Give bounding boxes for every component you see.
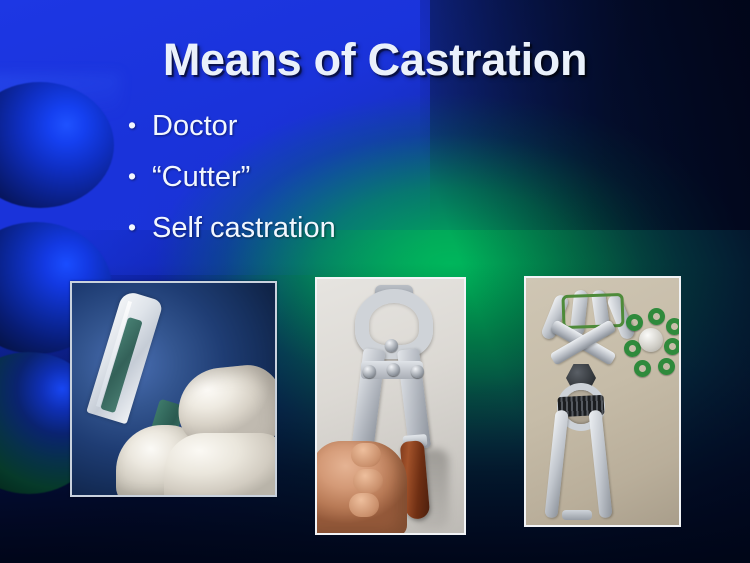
clamp-rivet bbox=[363, 365, 376, 378]
bullet-label: Doctor bbox=[152, 112, 558, 141]
bullet-label: Self castration bbox=[152, 214, 558, 243]
clamp-rivet bbox=[411, 365, 424, 378]
rubber-ring bbox=[664, 338, 681, 355]
bullet-marker-icon: • bbox=[128, 112, 152, 138]
clamp-rivet bbox=[387, 363, 400, 376]
rubber-ring bbox=[666, 318, 681, 335]
list-item: • “Cutter” bbox=[128, 163, 558, 192]
clamp-rivet bbox=[385, 339, 398, 352]
bullet-label: “Cutter” bbox=[152, 163, 558, 192]
bullet-list: • Doctor • “Cutter” • Self castration bbox=[128, 112, 558, 265]
hand-knuckle bbox=[351, 443, 381, 467]
burdizzo-clamp-photo bbox=[315, 277, 466, 535]
slide-title: Means of Castration bbox=[0, 34, 750, 86]
hand-knuckle bbox=[349, 493, 379, 517]
rubber-ring bbox=[648, 308, 665, 325]
elastrator-tool-photo bbox=[524, 276, 681, 527]
elastrator-handle-cap bbox=[562, 510, 592, 520]
rubber-ring bbox=[626, 314, 643, 331]
bullet-marker-icon: • bbox=[128, 163, 152, 189]
rubber-ring bbox=[634, 360, 651, 377]
stretched-rubber-ring bbox=[561, 293, 624, 329]
list-item: • Doctor bbox=[128, 112, 558, 141]
rubber-ring bbox=[658, 358, 675, 375]
gloved-palm bbox=[164, 433, 277, 497]
presentation-slide: Means of Castration • Doctor • “Cutter” … bbox=[0, 0, 750, 563]
metal-disc bbox=[639, 328, 663, 352]
list-item: • Self castration bbox=[128, 214, 558, 243]
hand-knuckle bbox=[353, 469, 383, 493]
surgical-scalpel-photo bbox=[70, 281, 277, 497]
bullet-marker-icon: • bbox=[128, 214, 152, 240]
